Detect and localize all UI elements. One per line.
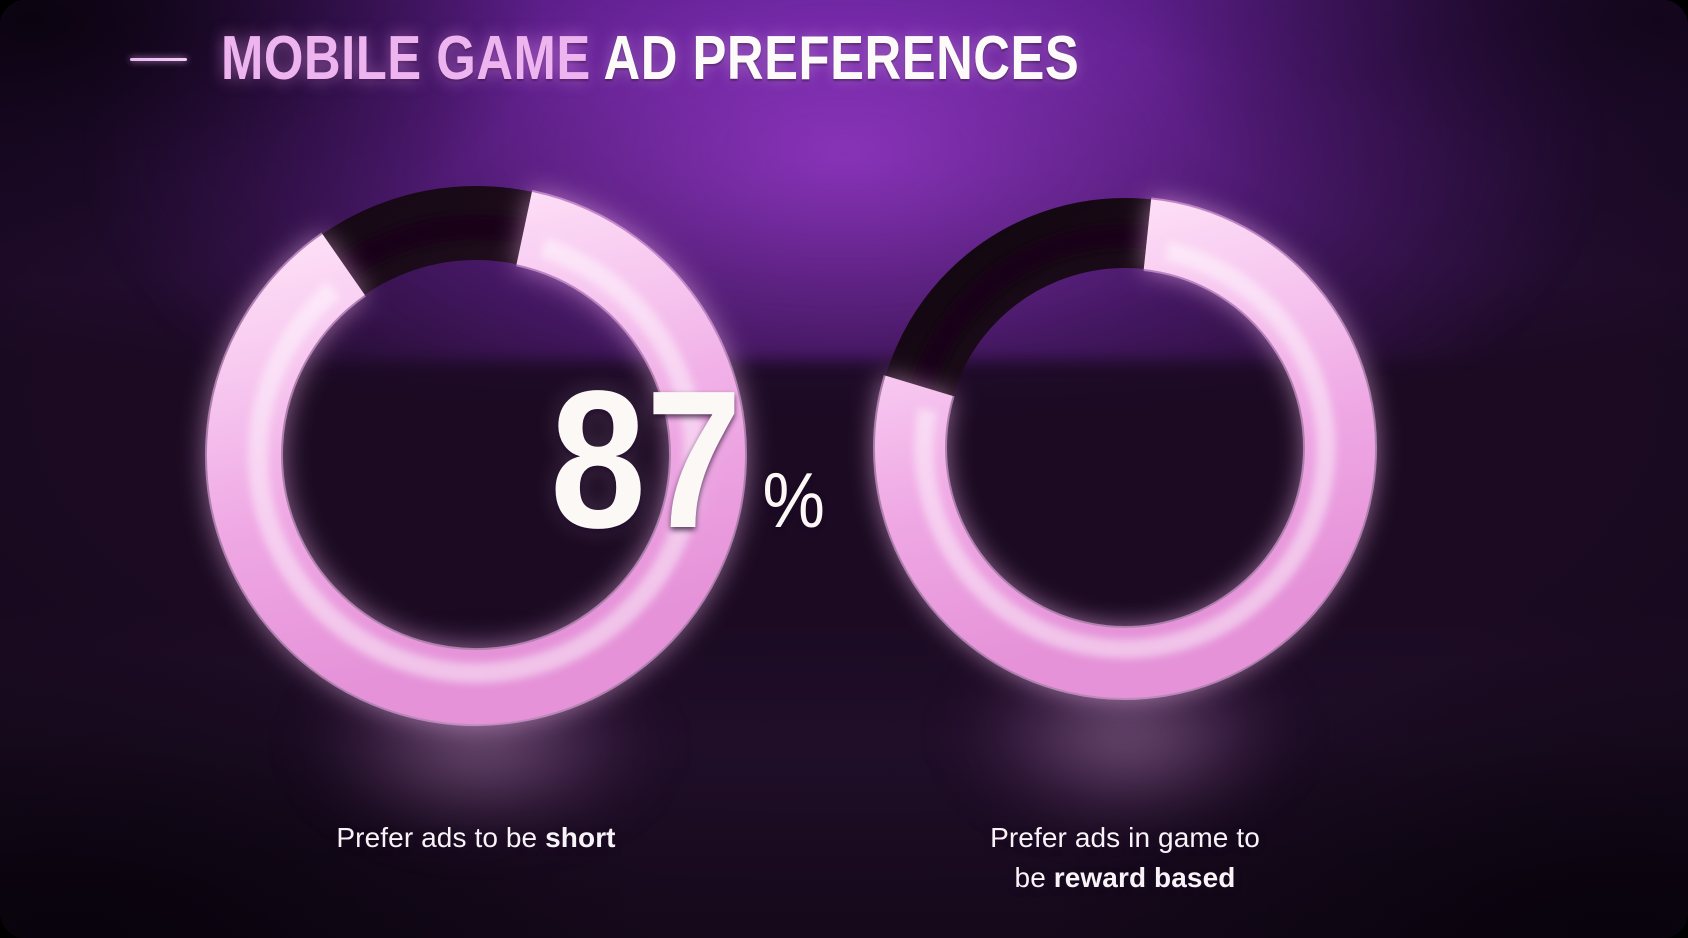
caption-left-plain: Prefer ads to be <box>336 822 545 853</box>
donut-value-left: 87 <box>550 372 742 548</box>
caption-right-line-two: be reward based <box>900 858 1350 898</box>
donut-caption-left: Prefer ads to be short <box>236 818 716 858</box>
donut-chart-78: 78 % <box>875 198 1375 698</box>
charts-container: 87 % <box>0 0 1688 938</box>
caption-right-plain: be <box>1015 862 1054 893</box>
page-title-main: AD PREFERENCES <box>604 24 1080 93</box>
donut-unit-left: % <box>763 461 825 539</box>
page-title-highlight: MOBILE GAME <box>221 24 591 93</box>
donut-ring-svg-right <box>875 198 1375 698</box>
caption-right-bold: reward based <box>1054 862 1236 893</box>
donut-caption-right: Prefer ads in game to be reward based <box>900 818 1350 898</box>
caption-left-bold: short <box>545 822 616 853</box>
caption-right-line-one: Prefer ads in game to <box>900 818 1350 858</box>
page-header: MOBILE GAME AD PREFERENCES <box>130 28 1268 90</box>
page-title: MOBILE GAME AD PREFERENCES <box>221 28 1079 90</box>
donut-chart-87: 87 % <box>207 186 745 724</box>
title-dash-icon <box>130 58 187 61</box>
infographic-canvas: MOBILE GAME AD PREFERENCES <box>0 0 1688 938</box>
